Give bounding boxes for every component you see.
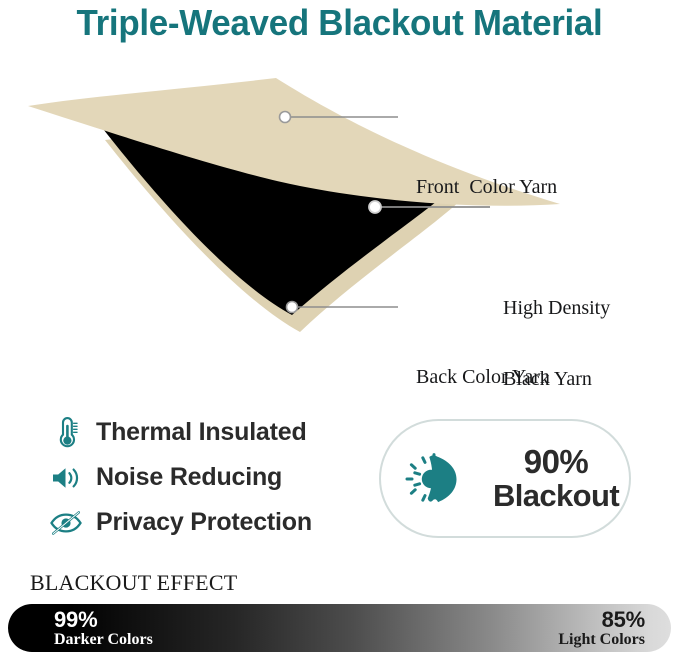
feature-privacy-protection: Privacy Protection [48,500,378,545]
callout-label-black-yarn-line1: High Density [503,297,610,321]
callout-label-back-color-yarn: Back Color Yarn [416,366,550,390]
feature-thermal-insulated: Thermal Insulated [48,410,378,455]
callout-label-front-color-yarn: Front Color Yarn [416,176,557,200]
speaker-volume-icon [48,460,84,496]
feature-list: Thermal Insulated Noise Reducing Privacy… [48,410,378,545]
thermometer-icon [48,415,84,451]
blackout-effect-heading: BLACKOUT EFFECT [30,570,237,596]
blackout-word: Blackout [483,480,629,513]
blackout-effect-darker-colors: 99% Darker Colors [54,604,153,652]
fabric-layers-diagram: Front Color Yarn High Density Black Yarn… [0,70,679,360]
light-colors-caption: Light Colors [558,631,645,649]
blackout-badge: 90% Blackout [379,419,631,538]
sun-blocked-by-curtain-icon [401,443,473,515]
callout-label-black-yarn: High Density Black Yarn [503,250,610,439]
feature-label: Noise Reducing [96,463,282,492]
blackout-effect-gradient-bar: 99% Darker Colors 85% Light Colors [8,604,671,652]
feature-label: Thermal Insulated [96,418,307,447]
eye-slash-icon [48,505,84,541]
blackout-percent: 90% [483,445,629,480]
blackout-badge-text: 90% Blackout [483,445,629,512]
page-title: Triple-Weaved Blackout Material [10,2,669,44]
light-colors-percent: 85% [602,608,645,631]
blackout-effect-light-colors: 85% Light Colors [558,604,645,652]
feature-noise-reducing: Noise Reducing [48,455,378,500]
darker-colors-percent: 99% [54,608,97,631]
darker-colors-caption: Darker Colors [54,631,153,649]
feature-label: Privacy Protection [96,508,312,537]
